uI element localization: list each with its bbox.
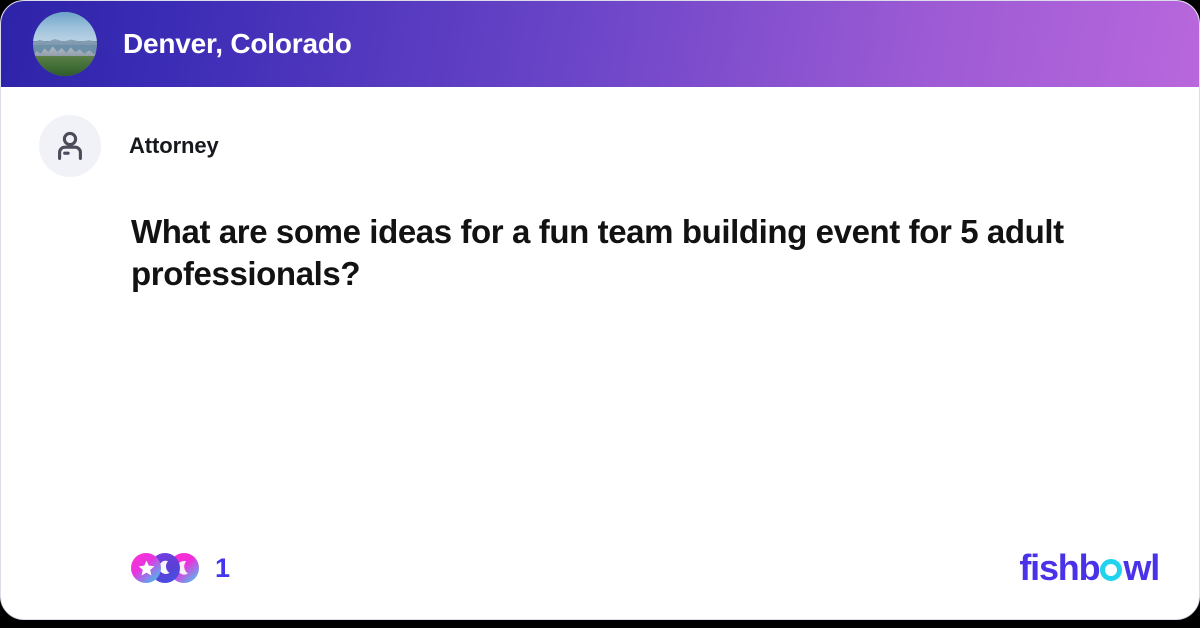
card-body: Attorney What are some ideas for a fun t…: [1, 87, 1199, 619]
avatar: [39, 115, 101, 177]
card-footer: 1 fishb wl: [1, 545, 1199, 591]
skyline-sky: [33, 12, 97, 41]
post-body-text: What are some ideas for a fun team build…: [131, 211, 1091, 295]
card-header: Denver, Colorado: [1, 1, 1199, 87]
denver-skyline-photo-icon: [33, 12, 97, 76]
brand-text-part2: wl: [1123, 550, 1159, 586]
post-author-row: Attorney: [1, 87, 1199, 177]
brand-o-ring-icon: [1100, 559, 1122, 581]
skyline-trees: [33, 56, 97, 76]
page-title: Denver, Colorado: [123, 28, 352, 60]
star-reaction-icon[interactable]: [131, 553, 161, 583]
person-icon: [53, 129, 87, 163]
post-author-name: Attorney: [129, 133, 219, 159]
reaction-count: 1: [215, 553, 230, 584]
fishbowl-logo: fishb wl: [1019, 550, 1159, 586]
reactions-group[interactable]: 1: [131, 553, 230, 584]
post-card: Denver, Colorado Attorney What are some …: [0, 0, 1200, 620]
brand-text-part1: fishb: [1019, 550, 1099, 586]
reaction-badge-stack[interactable]: [131, 553, 199, 583]
